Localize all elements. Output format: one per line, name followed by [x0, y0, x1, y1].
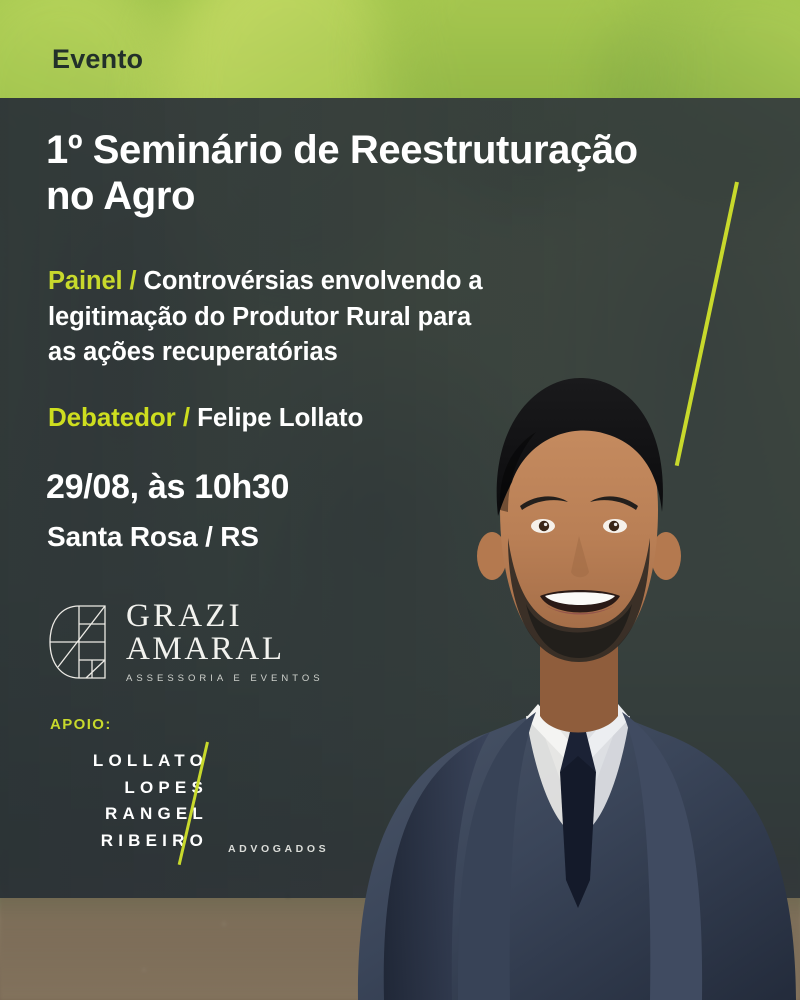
panel-text-line-2: legitimação do Produtor Rural para: [48, 303, 471, 331]
support-logo: LOLLATO LOPES RANGEL RIBEIRO ADVOGADOS: [30, 748, 280, 873]
organizer-name-line-1: GRAZI: [126, 600, 324, 633]
organizer-tagline: ASSESSORIA E EVENTOS: [126, 673, 324, 684]
organizer-logo: GRAZI AMARAL ASSESSORIA E EVENTOS: [48, 600, 324, 684]
debater-line: Debatedor / Felipe Lollato: [48, 402, 363, 433]
panel-separator: /: [130, 267, 137, 295]
eyebrow-label: Evento: [52, 44, 143, 75]
debater-separator: /: [183, 402, 190, 432]
support-name-2: LOPES: [30, 775, 208, 802]
support-firm-names: LOLLATO LOPES RANGEL RIBEIRO: [30, 748, 208, 855]
page-title: 1º Seminário de Reestruturação no Agro: [46, 127, 746, 220]
panel-text-line-3: as ações recuperatórias: [48, 338, 338, 366]
panel-label: Painel: [48, 267, 123, 295]
panel-text-line-1: Controvérsias envolvendo a: [144, 267, 483, 295]
organizer-name-line-2: AMARAL: [126, 633, 324, 666]
event-date: 29/08, às 10h30: [46, 468, 289, 507]
poster-content: Evento 1º Seminário de Reestruturação no…: [0, 0, 800, 1000]
panel-description: Painel / Controvérsias envolvendo a legi…: [48, 264, 608, 371]
debater-name: Felipe Lollato: [197, 402, 363, 432]
event-poster: Evento 1º Seminário de Reestruturação no…: [0, 0, 800, 1000]
support-name-3: RANGEL: [30, 801, 208, 828]
headline-line-1: 1º Seminário de Reestruturação: [46, 128, 638, 172]
headline-line-2: no Agro: [46, 174, 195, 218]
grazi-amaral-monogram-icon: [48, 605, 110, 679]
organizer-logo-text: GRAZI AMARAL ASSESSORIA E EVENTOS: [126, 600, 324, 684]
debater-label: Debatedor: [48, 402, 176, 432]
support-name-1: LOLLATO: [30, 748, 208, 775]
support-qualifier: ADVOGADOS: [228, 843, 329, 855]
support-label: APOIO:: [50, 716, 112, 733]
event-location: Santa Rosa / RS: [47, 521, 259, 553]
